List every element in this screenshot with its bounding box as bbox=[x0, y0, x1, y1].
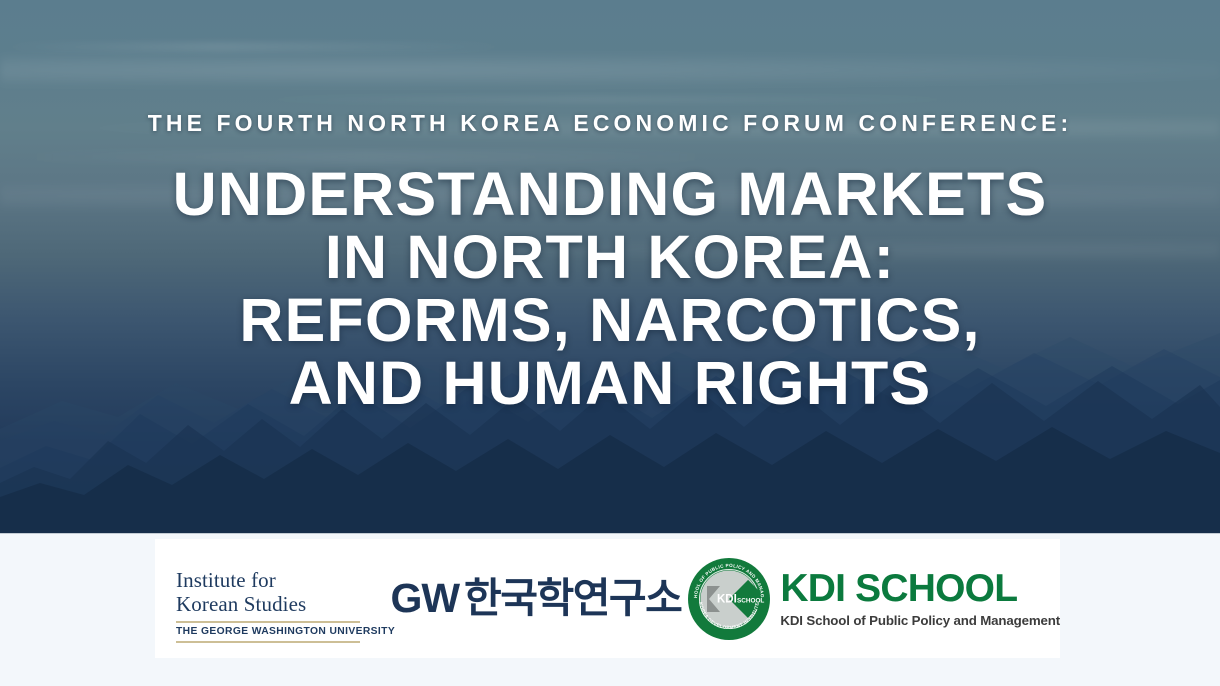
iks-divider-bottom bbox=[176, 641, 360, 643]
title-line-3: REFORMS, NARCOTICS, bbox=[173, 289, 1048, 352]
conference-poster: THE FOURTH NORTH KOREA ECONOMIC FORUM CO… bbox=[0, 0, 1220, 686]
kdi-seal-icon: KDI SCHOOL OF PUBLIC POLICY AND MANAGEME… bbox=[687, 557, 771, 641]
kdi-title: KDI SCHOOL bbox=[780, 569, 1060, 608]
title-line-4: AND HUMAN RIGHTS bbox=[173, 352, 1048, 415]
title-line-1: UNDERSTANDING MARKETS bbox=[173, 163, 1048, 226]
sponsor-logo-bar: Institute for Korean Studies THE GEORGE … bbox=[0, 533, 1220, 686]
iks-line-2: Korean Studies bbox=[176, 592, 396, 616]
gwks-korean-text: 한국학연구소 bbox=[464, 575, 681, 621]
hero-banner: THE FOURTH NORTH KOREA ECONOMIC FORUM CO… bbox=[0, 0, 1220, 533]
gwks-gw-text: GW bbox=[390, 575, 459, 621]
logo-gw-korean-studies[interactable]: GW한국학연구소 bbox=[390, 578, 681, 619]
hero-text-block: THE FOURTH NORTH KOREA ECONOMIC FORUM CO… bbox=[0, 0, 1220, 533]
page-title: UNDERSTANDING MARKETS IN NORTH KOREA: RE… bbox=[173, 163, 1048, 416]
logo-panel: Institute for Korean Studies THE GEORGE … bbox=[155, 539, 1060, 658]
conference-eyebrow: THE FOURTH NORTH KOREA ECONOMIC FORUM CO… bbox=[148, 112, 1073, 135]
svg-text:KDI: KDI bbox=[717, 593, 737, 605]
iks-university-name: THE GEORGE WASHINGTON UNIVERSITY bbox=[176, 626, 396, 638]
kdi-wordmark: KDI SCHOOL KDI School of Public Policy a… bbox=[780, 569, 1060, 627]
svg-text:SCHOOL: SCHOOL bbox=[737, 597, 764, 604]
gwks-wordmark: GW한국학연구소 bbox=[390, 578, 681, 619]
iks-divider-top bbox=[176, 621, 360, 623]
logo-institute-for-korean-studies[interactable]: Institute for Korean Studies THE GEORGE … bbox=[155, 568, 396, 643]
iks-line-1: Institute for bbox=[176, 568, 396, 592]
kdi-tagline: KDI School of Public Policy and Manageme… bbox=[780, 614, 1060, 627]
logo-kdi-school[interactable]: KDI SCHOOL OF PUBLIC POLICY AND MANAGEME… bbox=[681, 557, 1060, 641]
title-line-2: IN NORTH KOREA: bbox=[173, 226, 1048, 289]
